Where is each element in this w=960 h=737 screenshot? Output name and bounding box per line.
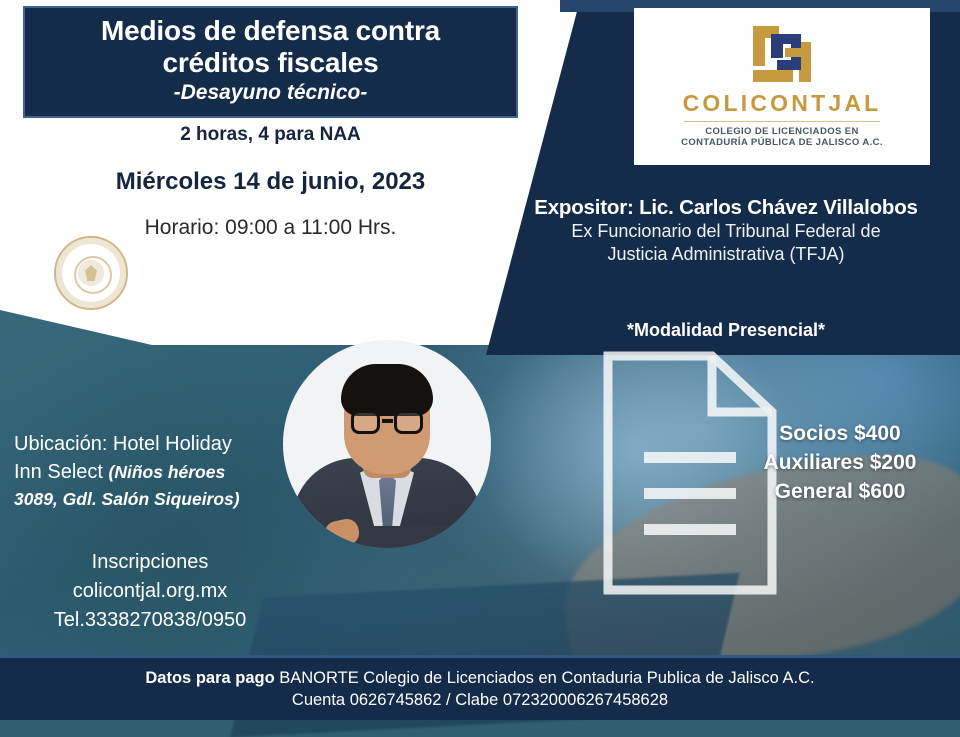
price-socios: Socios $400 [720,420,960,449]
page-title: Medios de defensa contra créditos fiscal… [101,15,440,78]
speaker-role-line-1: Ex Funcionario del Tribunal Federal de [500,220,952,243]
duration-text: 2 horas, 4 para NAA [23,124,518,146]
gold-seal-emblem-icon [54,236,128,310]
title-line-1: Medios de defensa contra [101,15,440,46]
logo-subtitle-line-1: COLEGIO DE LICENCIADOS EN [705,126,859,137]
title-subtitle: -Desayuno técnico- [174,81,368,105]
payment-bank-line: Datos para pago BANORTE Colegio de Licen… [145,669,814,688]
colicontjal-monogram-icon [751,24,813,86]
venue-name: Inn Select [14,461,103,483]
payment-label: Datos para pago [145,669,274,687]
payment-bank-info: BANORTE Colegio de Licenciados en Contad… [275,669,815,687]
event-date: Miércoles 14 de junio, 2023 [23,168,518,196]
registration-block: Inscripciones colicontjal.org.mx Tel.333… [14,548,286,635]
title-box: Medios de defensa contra créditos fiscal… [23,6,518,118]
speaker-portrait-avatar [283,340,491,548]
price-auxiliares: Auxiliares $200 [720,449,960,478]
speaker-role-line-2: Justicia Administrativa (TFJA) [500,243,952,266]
speaker-block: Expositor: Lic. Carlos Chávez Villalobos… [500,196,952,266]
location-line-2: Inn Select (Niños héroes [14,458,286,486]
payment-footer: Datos para pago BANORTE Colegio de Licen… [0,655,960,720]
logo-divider [684,121,880,122]
payment-account-line: Cuenta 0626745862 / Clabe 07232000626745… [292,691,668,710]
venue-address-part-1: (Niños héroes [109,462,226,482]
registration-phone[interactable]: Tel.3338270838/0950 [14,606,286,635]
colicontjal-logo-card: COLICONTJAL COLEGIO DE LICENCIADOS EN CO… [634,8,930,165]
location-line-1: Ubicación: Hotel Holiday [14,430,286,458]
location-block: Ubicación: Hotel Holiday Inn Select (Niñ… [14,430,286,512]
speaker-name: Expositor: Lic. Carlos Chávez Villalobos [500,196,952,220]
price-general: General $600 [720,478,960,507]
logo-name: COLICONTJAL [683,90,882,117]
logo-subtitle-line-2: CONTADURÍA PÚBLICA DE JALISCO A.C. [681,137,883,148]
registration-website[interactable]: colicontjal.org.mx [14,577,286,606]
registration-label: Inscripciones [14,548,286,577]
title-line-2: créditos fiscales [162,47,378,78]
venue-address-part-2: 3089, Gdl. Salón Siqueiros) [14,487,286,512]
pricing-block: Socios $400 Auxiliares $200 General $600 [720,420,960,507]
modality-text: *Modalidad Presencial* [500,320,952,341]
